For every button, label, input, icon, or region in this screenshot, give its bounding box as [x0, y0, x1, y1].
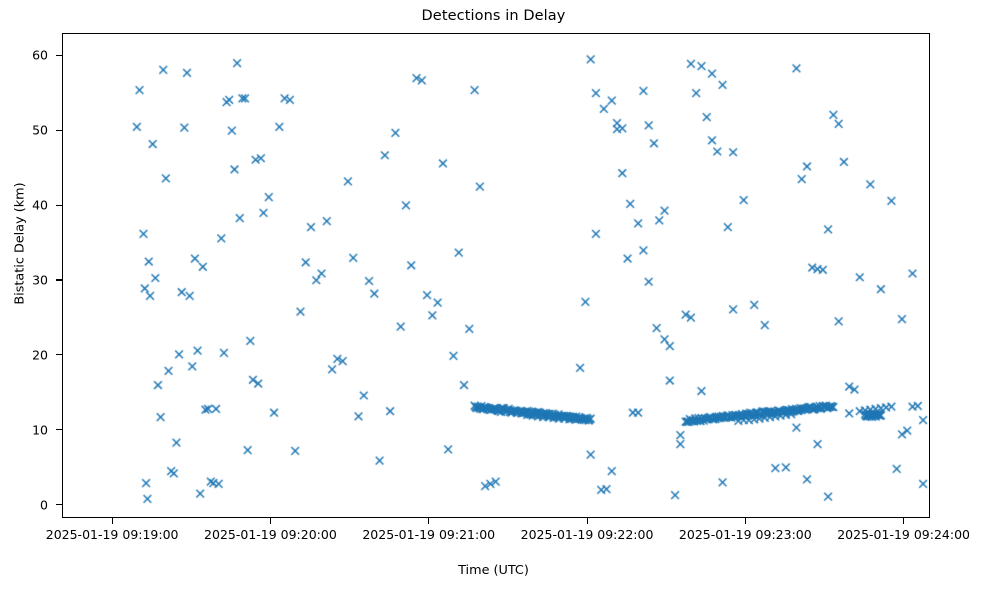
scatter-series-canvas: [63, 34, 930, 518]
x-tick-label: 2025-01-19 09:19:00: [46, 527, 179, 542]
y-tick-label: 50: [32, 123, 48, 138]
x-tick-mark: [903, 518, 904, 524]
x-tick-mark: [112, 518, 113, 524]
matplotlib-figure: Detections in Delay 0102030405060 Bistat…: [0, 0, 987, 590]
y-tick-label: 60: [32, 48, 48, 63]
x-tick-label: 2025-01-19 09:23:00: [679, 527, 812, 542]
x-tick-mark: [745, 518, 746, 524]
y-tick-label: 30: [32, 272, 48, 287]
plot-area: [62, 33, 930, 518]
x-axis-label: Time (UTC): [0, 563, 987, 578]
y-tick-label: 20: [32, 347, 48, 362]
chart-title: Detections in Delay: [0, 8, 987, 24]
x-tick-label: 2025-01-19 09:21:00: [362, 527, 495, 542]
y-tick-label: 0: [40, 497, 48, 512]
x-tick-mark: [428, 518, 429, 524]
x-tick-label: 2025-01-19 09:24:00: [837, 527, 970, 542]
x-tick-label: 2025-01-19 09:20:00: [204, 527, 337, 542]
y-tick-label: 40: [32, 198, 48, 213]
y-tick-label: 10: [32, 422, 48, 437]
y-axis-label: Bistatic Delay (km): [13, 114, 28, 374]
x-tick-mark: [270, 518, 271, 524]
x-tick-label: 2025-01-19 09:22:00: [521, 527, 654, 542]
x-tick-mark: [587, 518, 588, 524]
